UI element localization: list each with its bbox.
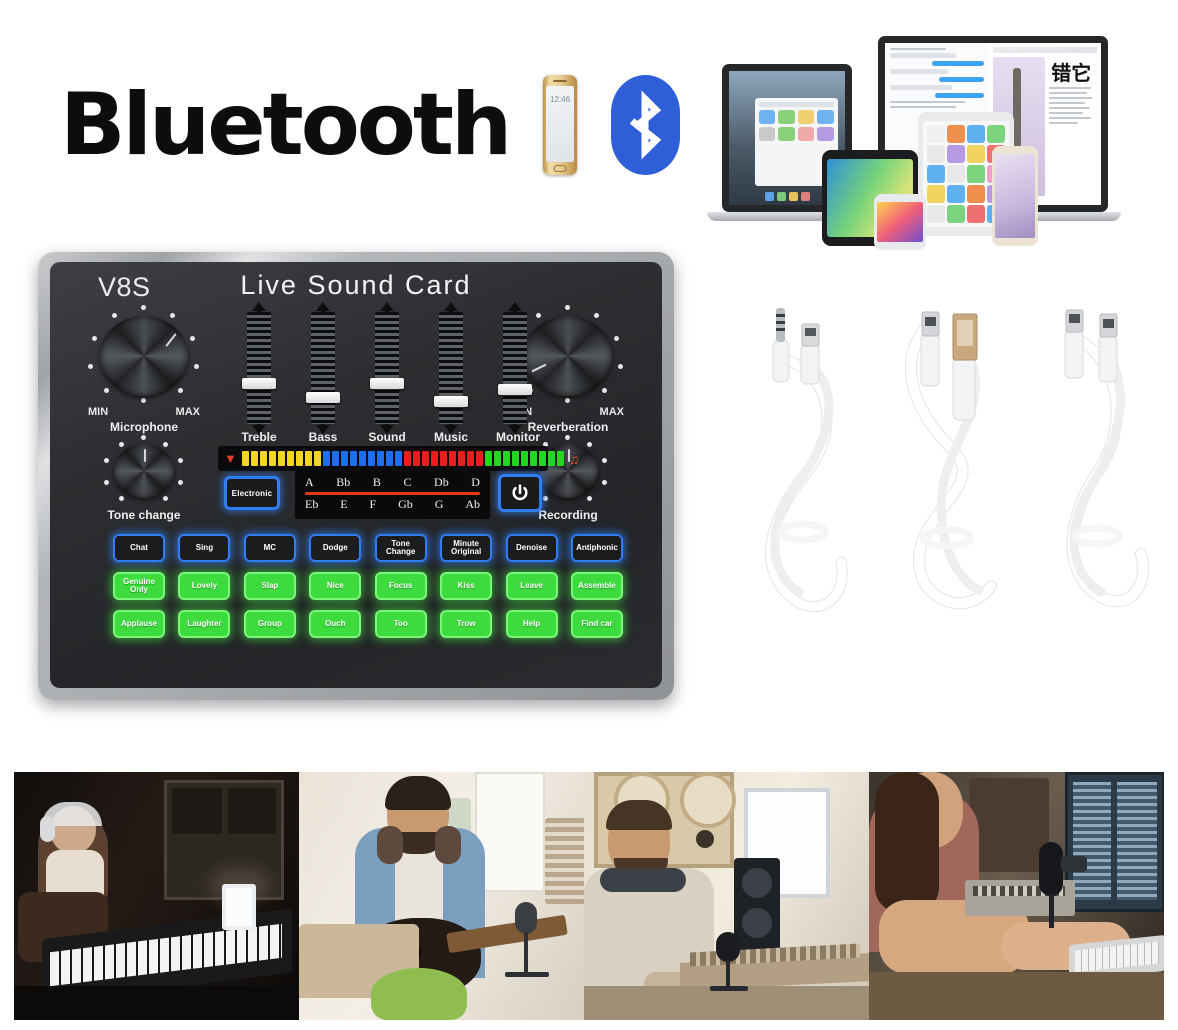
power-button[interactable] <box>498 474 542 512</box>
monitor-label: Monitor <box>496 430 534 444</box>
effect-button-ouch[interactable]: Ouch <box>309 610 361 638</box>
led-segment <box>512 451 519 466</box>
led-segment <box>413 451 420 466</box>
led-segment <box>431 451 438 466</box>
bass-label: Bass <box>304 430 342 444</box>
led-segment <box>539 451 546 466</box>
effect-button-label: Focus <box>389 582 413 590</box>
white-smartphone <box>874 194 926 250</box>
led-segment <box>269 451 276 466</box>
led-segment <box>260 451 267 466</box>
effect-button-label: Applause <box>121 620 157 628</box>
led-segment <box>350 451 357 466</box>
effect-button-label-line2: Original <box>451 548 481 556</box>
microphone-label: Microphone <box>82 420 206 434</box>
led-segment <box>440 451 447 466</box>
led-segment <box>386 451 393 466</box>
key-note: Gb <box>398 497 413 512</box>
microphone-min-label: MIN <box>88 406 108 418</box>
effect-button-label: Slap <box>261 582 278 590</box>
led-segment <box>305 451 312 466</box>
effect-button-group[interactable]: Group <box>244 610 296 638</box>
power-icon <box>510 483 530 503</box>
led-segment <box>404 451 411 466</box>
device-title-label: Live Sound Card <box>50 270 662 301</box>
live-sound-card-device: V8S Live Sound Card MIN MAX <box>38 252 674 700</box>
effect-button-label: Assemble <box>578 582 616 590</box>
effect-button-row: ChatSingMCDodgeToneChangeMinuteOriginalD… <box>113 534 623 562</box>
cables-group <box>745 300 1165 630</box>
effect-button-assemble[interactable]: Assemble <box>571 572 623 600</box>
effect-button-label: Denoise <box>516 544 547 552</box>
micro-usb-to-usb-a-cable <box>895 300 1015 630</box>
key-note: Db <box>434 475 449 490</box>
music-fader[interactable]: Music <box>432 312 470 424</box>
devices-collage: 错它 <box>706 22 1170 268</box>
effect-button-dodge[interactable]: Dodge <box>309 534 361 562</box>
led-segment <box>242 451 249 466</box>
effect-button-label: Dodge <box>323 544 348 552</box>
music-note-icon: ♫ <box>569 451 580 467</box>
effect-button-denoise[interactable]: Denoise <box>506 534 558 562</box>
effect-button-leave[interactable]: Leave <box>506 572 558 600</box>
effect-button-minute-original[interactable]: MinuteOriginal <box>440 534 492 562</box>
led-segment <box>422 451 429 466</box>
music-label: Music <box>432 430 470 444</box>
phone-time: 12:46 <box>546 95 574 104</box>
led-segment <box>323 451 330 466</box>
effect-button-kiss[interactable]: Kiss <box>440 572 492 600</box>
key-display-divider <box>305 492 480 495</box>
effect-button-label: Nice <box>327 582 344 590</box>
photo-man-studio <box>584 772 869 1020</box>
led-segment <box>449 451 456 466</box>
microphone-icon: ▼ <box>224 451 237 466</box>
led-segment <box>251 451 258 466</box>
treble-label: Treble <box>240 430 278 444</box>
key-note: E <box>340 497 347 512</box>
led-segment <box>296 451 303 466</box>
sound-fader[interactable]: Sound <box>368 312 406 424</box>
device-cjk-text: 错它 <box>1051 63 1097 83</box>
effect-button-label: Leave <box>520 582 543 590</box>
bluetooth-title: Bluetooth <box>60 82 509 168</box>
key-note: Ab <box>465 497 480 512</box>
led-segment <box>494 451 501 466</box>
led-segment <box>332 451 339 466</box>
effect-button-applause[interactable]: Applause <box>113 610 165 638</box>
key-display: ABbBCDbD EbEFGbGAb <box>295 471 490 519</box>
sound-label: Sound <box>368 430 406 444</box>
microphone-max-label: MAX <box>176 406 200 418</box>
phone-speaker <box>553 80 567 82</box>
key-note: F <box>370 497 377 512</box>
effect-button-label-line2: Only <box>123 586 155 594</box>
effect-button-label: Trow <box>457 620 476 628</box>
microphone-knob[interactable]: MIN MAX Microphone <box>82 306 206 406</box>
effect-button-sing[interactable]: Sing <box>178 534 230 562</box>
treble-fader[interactable]: Treble <box>240 312 278 424</box>
led-segment <box>530 451 537 466</box>
led-segment <box>287 451 294 466</box>
photo-woman-mic <box>869 772 1164 1020</box>
phone-screen: 12:46 <box>546 86 574 162</box>
effect-button-nice[interactable]: Nice <box>309 572 361 600</box>
effect-button-laughter[interactable]: Laughter <box>178 610 230 638</box>
led-segment <box>548 451 555 466</box>
electronic-button-label: Electronic <box>232 489 273 498</box>
effect-button-label: Help <box>523 620 540 628</box>
key-display-bottom-row: EbEFGbGAb <box>305 497 480 512</box>
effect-button-focus[interactable]: Focus <box>375 572 427 600</box>
photo-man-guitar <box>299 772 584 1020</box>
aux-to-micro-usb-cable <box>745 300 865 630</box>
effect-button-label: Find car <box>581 620 612 628</box>
effect-button-label: Chat <box>130 544 148 552</box>
led-segment <box>377 451 384 466</box>
electronic-button[interactable]: Electronic <box>224 476 280 510</box>
effect-button-grid: ChatSingMCDodgeToneChangeMinuteOriginalD… <box>113 534 623 648</box>
led-segment <box>503 451 510 466</box>
led-segment <box>314 451 321 466</box>
led-segment <box>341 451 348 466</box>
tone-change-knob[interactable]: Tone change <box>98 436 190 506</box>
led-segment <box>458 451 465 466</box>
key-note: G <box>435 497 444 512</box>
effect-button-too[interactable]: Too <box>375 610 427 638</box>
led-segment <box>368 451 375 466</box>
bluetooth-banner: Bluetooth 12:46 <box>60 55 680 195</box>
photo-woman-keyboard <box>14 772 299 1020</box>
effect-button-label: Lovely <box>192 582 217 590</box>
effect-button-label: Too <box>394 620 408 628</box>
level-meter: ▼ ♫ <box>218 446 548 471</box>
key-note: B <box>373 475 381 490</box>
led-segment <box>476 451 483 466</box>
led-segment <box>359 451 366 466</box>
effect-button-label: Sing <box>196 544 213 552</box>
led-segments <box>242 451 564 466</box>
key-note: Eb <box>305 497 318 512</box>
effect-button-row: GenuineOnlyLovelySlapNiceFocusKissLeaveA… <box>113 572 623 600</box>
monitor-fader[interactable]: Monitor <box>496 312 534 424</box>
key-note: D <box>471 475 480 490</box>
bass-fader[interactable]: Bass <box>304 312 342 424</box>
led-segment <box>485 451 492 466</box>
smartphone-icon: 12:46 <box>543 75 577 175</box>
effect-button-label: Ouch <box>325 620 345 628</box>
led-segment <box>557 451 564 466</box>
led-segment <box>521 451 528 466</box>
gold-smartphone <box>992 146 1038 246</box>
effect-button-chat[interactable]: Chat <box>113 534 165 562</box>
key-note: C <box>403 475 411 490</box>
key-note: A <box>305 475 314 490</box>
led-segment <box>278 451 285 466</box>
effect-button-lovely[interactable]: Lovely <box>178 572 230 600</box>
effect-button-find-car[interactable]: Find car <box>571 610 623 638</box>
led-segment <box>467 451 474 466</box>
effect-button-antiphonic[interactable]: Antiphonic <box>571 534 623 562</box>
micro-usb-to-micro-usb-cable <box>1041 300 1161 630</box>
effect-button-slap[interactable]: Slap <box>244 572 296 600</box>
lifestyle-photo-strip <box>14 772 1164 1020</box>
key-note: Bb <box>336 475 350 490</box>
effect-button-trow[interactable]: Trow <box>440 610 492 638</box>
led-segment <box>395 451 402 466</box>
reverberation-max-label: MAX <box>600 406 624 418</box>
effect-button-label: Laughter <box>187 620 221 628</box>
bluetooth-logo-icon <box>611 75 680 175</box>
effect-button-tone-change[interactable]: ToneChange <box>375 534 427 562</box>
effect-button-label: MC <box>264 544 276 552</box>
phone-home-button <box>554 165 567 172</box>
effect-button-label: Kiss <box>458 582 475 590</box>
tone-change-label: Tone change <box>98 508 190 522</box>
effect-button-label: Group <box>258 620 282 628</box>
key-display-top-row: ABbBCDbD <box>305 475 480 490</box>
effect-button-help[interactable]: Help <box>506 610 558 638</box>
effect-button-label-line2: Change <box>386 548 415 556</box>
effect-button-mc[interactable]: MC <box>244 534 296 562</box>
effect-button-row: ApplauseLaughterGroupOuchTooTrowHelpFind… <box>113 610 623 638</box>
effect-button-label: Antiphonic <box>576 544 618 552</box>
effect-button-genuine-only[interactable]: GenuineOnly <box>113 572 165 600</box>
